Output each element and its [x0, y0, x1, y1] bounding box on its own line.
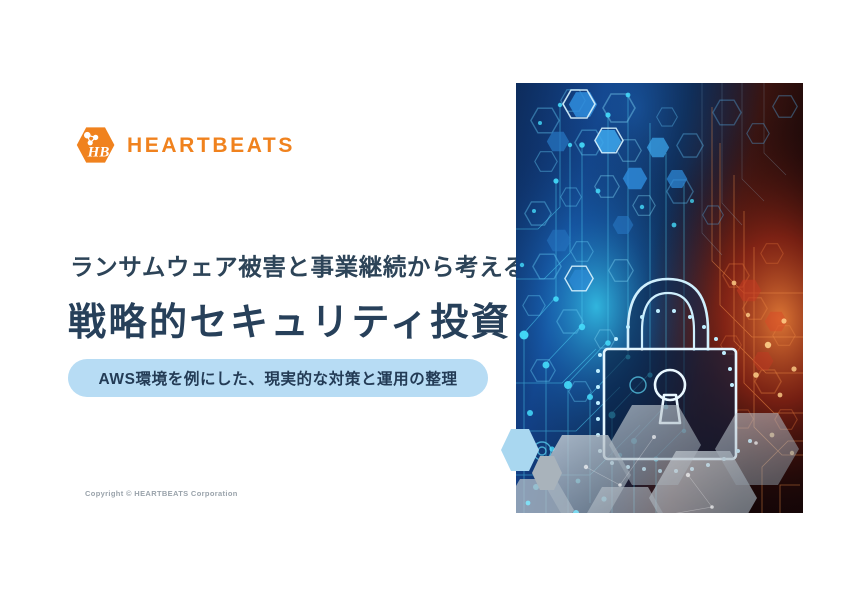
decorative-hexagon-gray — [531, 455, 563, 491]
copyright-notice: Copyright © HEARTBEATS Corporation — [85, 489, 238, 498]
slide-root: HB HEARTBEATS ランサムウェア被害と事業継続から考える 戦略的セキュ… — [0, 0, 842, 595]
hero-image — [516, 83, 803, 513]
subtitle-badge-label: AWS環境を例にした、現実的な対策と運用の整理 — [98, 367, 457, 389]
brand-logo: HB HEARTBEATS — [74, 124, 295, 166]
slide-title: 戦略的セキュリティ投資 — [68, 291, 511, 346]
svg-text:HB: HB — [87, 145, 110, 161]
brand-wordmark: HEARTBEATS — [127, 135, 295, 156]
heartbeats-hexagon-logo-icon: HB — [74, 124, 116, 166]
subtitle-badge: AWS環境を例にした、現実的な対策と運用の整理 — [68, 359, 488, 397]
slide-subtitle: ランサムウェア被害と事業継続から考える — [70, 248, 527, 282]
